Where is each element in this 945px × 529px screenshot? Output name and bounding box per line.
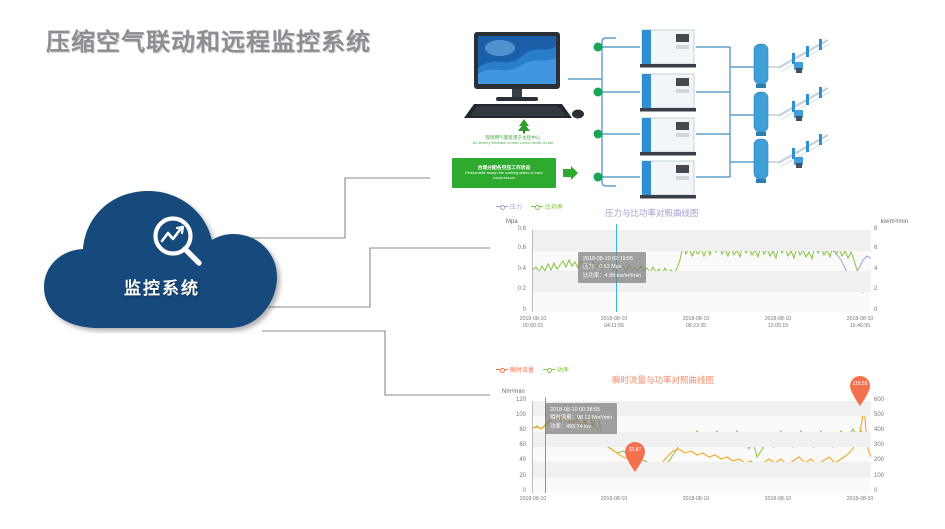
chart1-y2tick: 0	[874, 307, 890, 313]
chart2-ylabel: Nm³/min	[502, 389, 525, 395]
chart1-title: 压力与比功率对照曲线图	[605, 207, 699, 219]
chart2-marker-high[interactable]: 118.55	[848, 375, 872, 406]
chart2-ytick: 0	[498, 488, 526, 494]
legend-label: 压力	[510, 202, 522, 211]
tooltip-line2: 功率：493.74 kw	[550, 423, 612, 431]
legend-label: 比功率	[545, 202, 563, 211]
chart2-ytick: 20	[498, 473, 526, 479]
chart2-ytick: 80	[498, 427, 526, 433]
chart2-legend[interactable]: 瞬时流量 功率	[496, 365, 569, 374]
chart2-y2tick: 400	[874, 427, 892, 433]
chart1-y2tick: 4	[874, 266, 890, 272]
chart2-ytick: 40	[498, 457, 526, 463]
chart1-tooltip: 2018-08-10 02:19:55 压力：0.63 Mpa 比功率：4.99…	[578, 252, 646, 283]
compressor-network	[430, 22, 940, 200]
chart2-xtick: 2018-08-10	[665, 496, 727, 503]
legend-item-flow[interactable]: 瞬时流量	[496, 365, 534, 374]
marker-value: 118.55	[848, 381, 872, 387]
page-title: 压缩空气联动和远程监控系统	[46, 22, 371, 57]
tooltip-line1: 瞬时流量：98.13 Nm³/min	[550, 414, 612, 422]
legend-swatch-icon	[496, 206, 508, 207]
chart1-ylabel: Mpa	[506, 219, 518, 225]
legend-item-pressure[interactable]: 压力	[496, 202, 522, 211]
chart2-ytick: 100	[498, 412, 526, 418]
chart2-xtick: 2018-08-10	[829, 496, 891, 503]
chart2-ytick: 120	[498, 397, 526, 403]
flow-power-chart-card: 瞬时流量 功率 瞬时流量与功率对照曲线图 Nm³/min 33.87 118.5…	[490, 363, 910, 513]
magnifier-chart-icon	[149, 214, 207, 272]
chart1-legend[interactable]: 压力 比功率	[496, 202, 563, 211]
chart1-ytick: 0.6	[498, 245, 526, 251]
chart2-y2tick: 0	[874, 488, 892, 494]
chart1-y2tick: 6	[874, 245, 890, 251]
chart2-ytick: 60	[498, 442, 526, 448]
chart2-tooltip: 2018-08-10 00:38:55 瞬时流量：98.13 Nm³/min 功…	[545, 403, 617, 434]
tooltip-line2: 比功率：4.99 kw/m³/min	[583, 272, 641, 280]
legend-label: 功率	[557, 365, 569, 374]
chart2-xtick: 2018-08-10	[583, 496, 645, 503]
chart1-xtick: 2018-08-10 12:05:15	[747, 316, 809, 329]
chart1-ytick: 0.2	[498, 286, 526, 292]
chart2-y2tick: 200	[874, 457, 892, 463]
legend-swatch-icon	[531, 206, 543, 207]
chart2-title: 瞬时流量与功率对照曲线图	[612, 374, 714, 386]
chart2-y2tick: 300	[874, 442, 892, 448]
chart1-xtick: 2018-08-10 08:23:35	[665, 316, 727, 329]
chart1-ytick: 0.8	[498, 226, 526, 232]
chart2-marker-low[interactable]: 33.87	[623, 441, 647, 472]
legend-label: 瞬时流量	[510, 365, 534, 374]
chart1-y2tick: 2	[874, 286, 890, 292]
legend-item-power[interactable]: 功率	[543, 365, 569, 374]
map-pin-icon	[623, 441, 647, 472]
cloud-monitoring-system[interactable]: 监控系统	[36, 186, 288, 334]
chart1-xtick: 2018-08-10 16:46:55	[829, 316, 891, 329]
chart1-xtick: 2018-08-10 00:00:15	[502, 316, 564, 329]
chart1-y2label: kw/m³/min	[881, 219, 908, 225]
chart2-xtick: 2018-08-10	[747, 496, 809, 503]
tooltip-time: 2018-08-10 00:38:55	[550, 406, 612, 414]
chart2-y2tick: 600	[874, 397, 892, 403]
tooltip-time: 2018-08-10 02:19:55	[583, 255, 641, 263]
cloud-label: 监控系统	[36, 274, 288, 299]
map-pin-icon	[848, 375, 872, 406]
chart1-y2tick: 8	[874, 226, 890, 232]
chart1-xtick: 2018-08-10 04:11:55	[583, 316, 645, 329]
chart2-y2tick: 100	[874, 473, 892, 479]
chart1-ytick: 0	[498, 307, 526, 313]
system-diagram: 现场用气量反馈于主控中心 Air delivery feedback of ma…	[430, 22, 940, 200]
tooltip-line1: 压力：0.63 Mpa	[583, 263, 641, 271]
chart1-ytick: 0.4	[498, 266, 526, 272]
legend-swatch-icon	[496, 369, 508, 370]
legend-item-specific-power[interactable]: 比功率	[531, 202, 563, 211]
chart2-y2tick: 500	[874, 412, 892, 418]
marker-value: 33.87	[623, 447, 647, 453]
pressure-chart-card: 压力 比功率 压力与比功率对照曲线图 Mpa kw/m³/min 0 0.2 0…	[490, 200, 910, 335]
chart2-xtick: 2018-08-10	[502, 496, 564, 503]
legend-swatch-icon	[543, 369, 555, 370]
